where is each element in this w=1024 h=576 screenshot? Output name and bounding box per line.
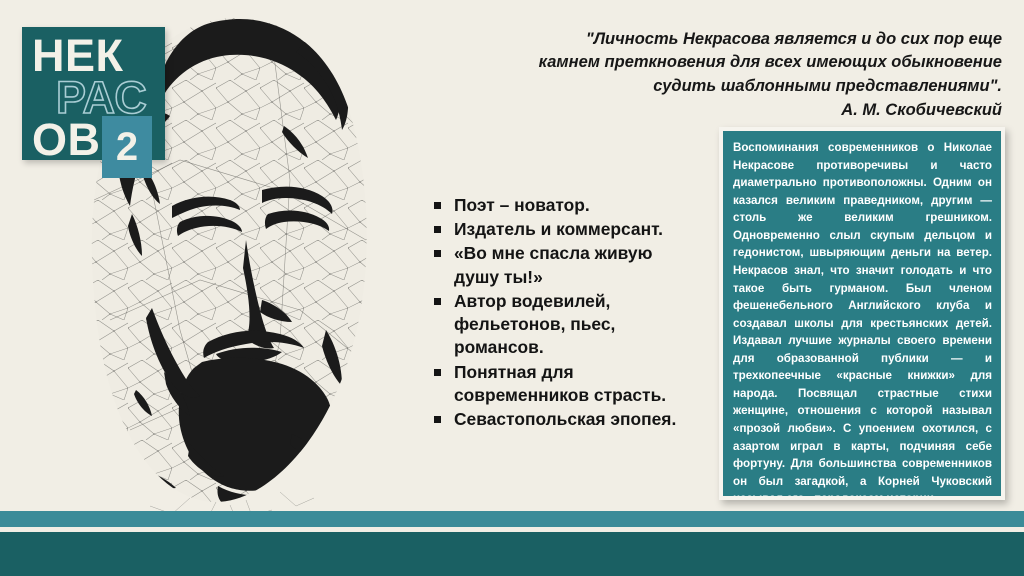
square-bullet-icon <box>434 298 441 305</box>
square-bullet-icon <box>434 226 441 233</box>
square-bullet-icon <box>434 202 441 209</box>
quote-block: "Личность Некрасова является и до сих по… <box>494 28 1002 123</box>
list-item: Понятная для современников страсть. <box>434 361 702 407</box>
list-item-label: Понятная для современников страсть. <box>454 361 702 407</box>
list-item: Поэт – новатор. <box>434 194 702 217</box>
slide-canvas: НЕК РАС ОВ 2 "Личность Некрасова являетс… <box>0 0 1024 576</box>
square-bullet-icon <box>434 416 441 423</box>
list-item: Издатель и коммерсант. <box>434 218 702 241</box>
square-bullet-icon <box>434 250 441 257</box>
square-bullet-icon <box>434 369 441 376</box>
logo-line-ov: ОВ <box>32 117 101 162</box>
list-item-label: «Во мне спасла живую душу ты!» <box>454 242 702 288</box>
footer-band-dark <box>0 532 1024 576</box>
info-panel-text: Воспоминания современников о Николае Нек… <box>723 131 1001 496</box>
list-item-label: Поэт – новатор. <box>454 194 702 217</box>
footer-band-light <box>0 511 1024 527</box>
list-item-label: Автор водевилей, фельетонов, пьес, роман… <box>454 290 702 360</box>
quote-line-3: судить шаблонными представлениями". <box>494 75 1002 98</box>
logo-number-label: 2 <box>102 116 152 178</box>
quote-line-1: "Личность Некрасова является и до сих по… <box>494 28 1002 51</box>
quote-author: А. М. Скобичевский <box>494 99 1002 122</box>
footer-band-gap <box>0 527 1024 532</box>
quote-line-2: камнем преткновения для всех имеющих обы… <box>494 51 1002 74</box>
list-item-label: Издатель и коммерсант. <box>454 218 702 241</box>
bullet-list: Поэт – новатор. Издатель и коммерсант. «… <box>434 194 702 432</box>
list-item: Севастопольская эпопея. <box>434 408 702 431</box>
list-item: «Во мне спасла живую душу ты!» <box>434 242 702 288</box>
logo-number-badge: 2 <box>102 116 152 178</box>
info-panel: Воспоминания современников о Николае Нек… <box>719 127 1005 500</box>
list-item-label: Севастопольская эпопея. <box>454 408 702 431</box>
list-item: Автор водевилей, фельетонов, пьес, роман… <box>434 290 702 360</box>
